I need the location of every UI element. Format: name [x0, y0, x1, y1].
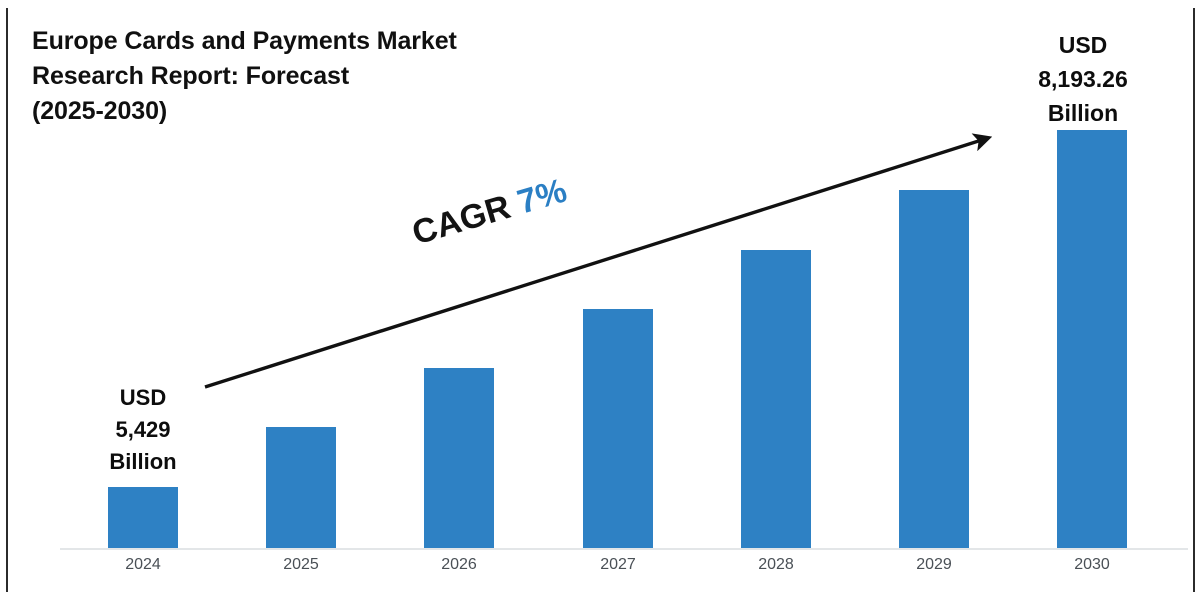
- start-callout-value: 5,429: [84, 414, 202, 446]
- x-tick-2026: 2026: [399, 556, 519, 574]
- market-forecast-infographic: Europe Cards and Payments Market Researc…: [0, 0, 1200, 600]
- bar-2029: [899, 190, 969, 548]
- x-tick-2028: 2028: [716, 556, 836, 574]
- bar-2030: [1057, 130, 1127, 548]
- x-tick-2030: 2030: [1032, 556, 1152, 574]
- end-callout-value: 8,193.26: [1000, 62, 1166, 96]
- x-tick-2027: 2027: [558, 556, 678, 574]
- end-callout-currency: USD: [1000, 28, 1166, 62]
- bar-2028: [741, 250, 811, 548]
- start-callout-currency: USD: [84, 382, 202, 414]
- x-tick-2024: 2024: [83, 556, 203, 574]
- start-callout-unit: Billion: [84, 446, 202, 478]
- bar-2024: [108, 487, 178, 548]
- start-value-callout: USD 5,429 Billion: [84, 382, 202, 478]
- bar-2026: [424, 368, 494, 548]
- x-tick-2029: 2029: [874, 556, 994, 574]
- x-tick-2025: 2025: [241, 556, 361, 574]
- end-value-callout: USD 8,193.26 Billion: [1000, 28, 1166, 130]
- bar-2025: [266, 427, 336, 548]
- bar-2027: [583, 309, 653, 548]
- end-callout-unit: Billion: [1000, 96, 1166, 130]
- x-axis-line: [60, 548, 1188, 550]
